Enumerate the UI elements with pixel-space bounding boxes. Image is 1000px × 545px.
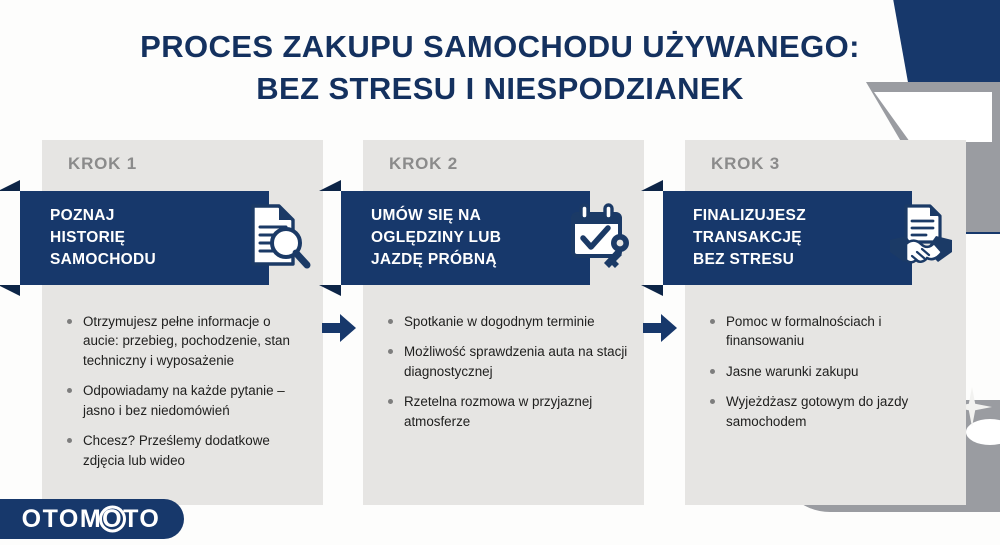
step-banner-3: FINALIZUJESZ TRANSAKCJĘ BEZ STRESU [663,191,912,285]
next-step-arrow-2 [643,312,677,344]
logo-text: OTOMOTO [12,505,161,534]
step-bullets-3: Pomoc w formalnościach i finansowaniu Ja… [709,312,952,442]
page-title: PROCES ZAKUPU SAMOCHODU UŻYWANEGO: BEZ S… [0,26,1000,109]
list-item: Chcesz? Prześlemy dodatkowe zdjęcia lub … [66,431,309,470]
step-banner-title-3: FINALIZUJESZ TRANSAKCJĘ BEZ STRESU [693,205,896,271]
document-magnifier-icon [245,202,311,272]
list-item: Otrzymujesz pełne informacje o aucie: pr… [66,312,309,370]
step-banner-2: UMÓW SIĘ NA OGLĘDZINY LUB JAZDĘ PRÓBNĄ [341,191,590,285]
step-banner-1: POZNAJ HISTORIĘ SAMOCHODU [20,191,269,285]
list-item: Rzetelna rozmowa w przyjaznej atmosferze [387,392,630,431]
otomoto-logo[interactable]: OTOMOTO [0,499,184,539]
list-item: Wyjeżdżasz gotowym do jazdy samochodem [709,392,952,431]
banner-tail-bottom [0,285,20,296]
step-bullets-1: Otrzymujesz pełne informacje o aucie: pr… [66,312,309,481]
step-bullets-2: Spotkanie w dogodnym terminie Możliwość … [387,312,630,442]
step-label-1: KROK 1 [68,154,137,174]
step-card-3: KROK 3 FINALIZUJESZ TRANSAKCJĘ BEZ STRES… [685,140,966,505]
steps-container: KROK 1 POZNAJ HISTORIĘ SAMOCHODU [0,140,1000,510]
list-item: Możliwość sprawdzenia auta na stacji dia… [387,342,630,381]
list-item: Spotkanie w dogodnym terminie [387,312,630,331]
infographic-canvas: PROCES ZAKUPU SAMOCHODU UŻYWANEGO: BEZ S… [0,0,1000,545]
title-line-2: BEZ STRESU I NIESPODZIANEK [0,68,1000,110]
step-card-1: KROK 1 POZNAJ HISTORIĘ SAMOCHODU [42,140,323,505]
next-step-arrow-1 [322,312,356,344]
step-banner-title-1: POZNAJ HISTORIĘ SAMOCHODU [50,205,253,271]
list-item: Odpowiadamy na każde pytanie – jasno i b… [66,381,309,420]
step-label-2: KROK 2 [389,154,458,174]
step-card-2: KROK 2 UMÓW SIĘ NA OGLĘDZINY LUB JAZDĘ P… [363,140,644,505]
title-line-1: PROCES ZAKUPU SAMOCHODU UŻYWANEGO: [0,26,1000,68]
banner-tail-top [641,180,663,191]
list-item: Jasne warunki zakupu [709,362,952,381]
handshake-document-icon [888,202,954,272]
step-banner-title-2: UMÓW SIĘ NA OGLĘDZINY LUB JAZDĘ PRÓBNĄ [371,205,574,271]
banner-tail-bottom [641,285,663,296]
step-label-3: KROK 3 [711,154,780,174]
list-item: Pomoc w formalnościach i finansowaniu [709,312,952,351]
banner-tail-top [0,180,20,191]
calendar-check-key-icon [566,202,632,272]
logo-ring-icon [99,506,126,533]
